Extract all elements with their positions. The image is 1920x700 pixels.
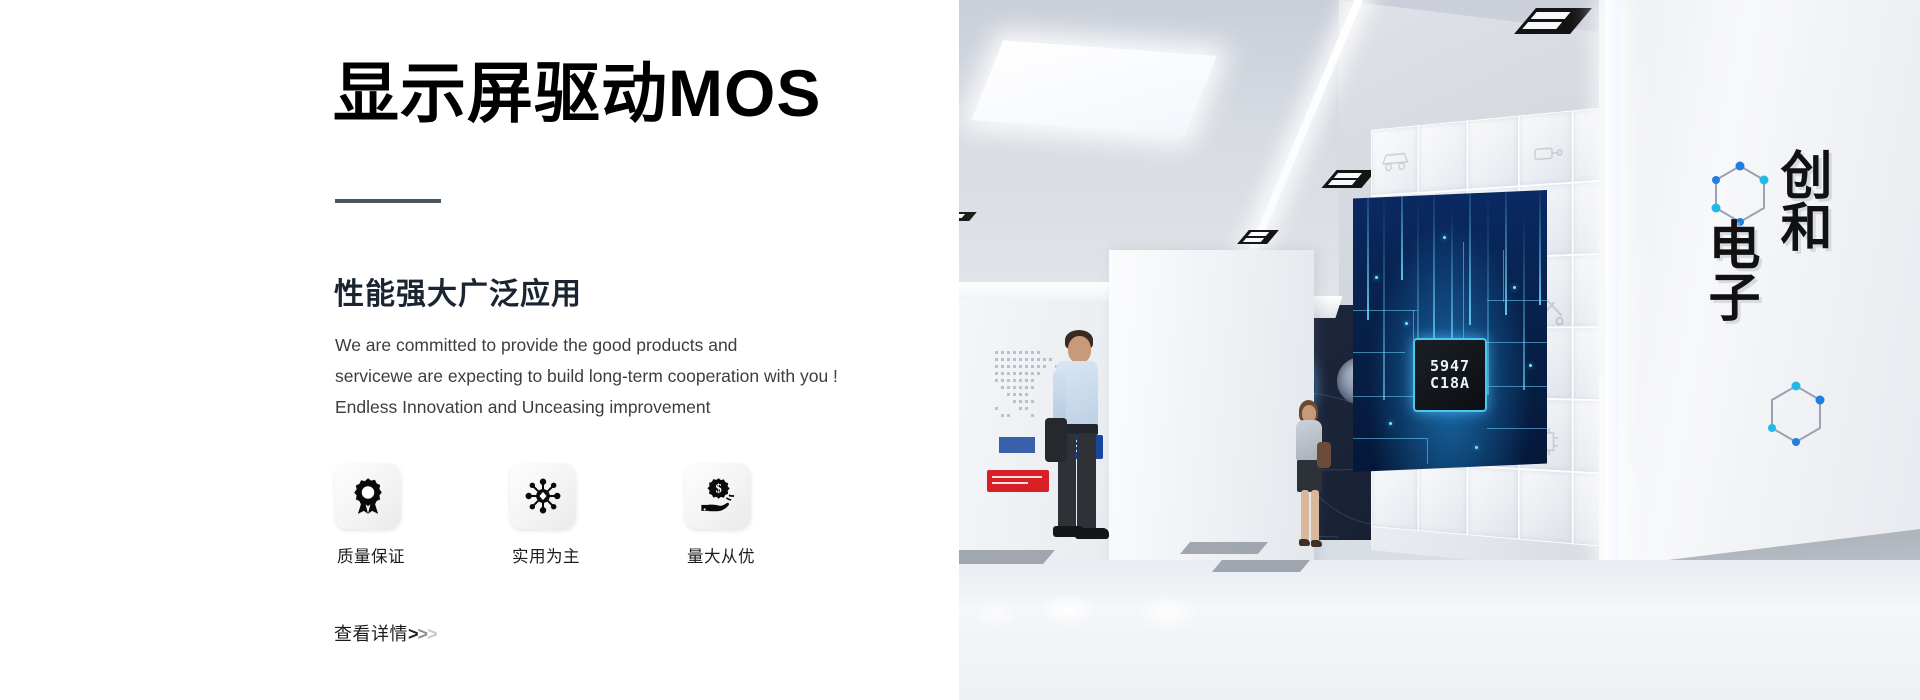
floor-inlay-1 <box>959 550 1055 564</box>
chip-graphic: 5947 C18A <box>1413 338 1487 412</box>
businessman-visitor <box>1039 330 1119 560</box>
showroom-floor <box>959 560 1920 700</box>
feature-label: 量大从优 <box>685 543 755 567</box>
led-display-screen: 5947 C18A <box>1353 190 1547 472</box>
brand-sign-column-1: 创和 <box>1771 148 1831 252</box>
page-title: 显示屏驱动MOS <box>333 56 821 132</box>
product-hero-banner: 显示屏驱动MOS 性能强大广泛应用 We are committed to pr… <box>0 0 1920 700</box>
network-hub-icon <box>510 463 576 529</box>
chevron-1-icon: > <box>408 624 418 645</box>
award-ribbon-icon <box>335 463 401 529</box>
embossed-product-icon-car <box>1379 139 1412 180</box>
embossed-product-icon-connector <box>1528 131 1566 175</box>
showroom-photo: 5947 C18A 创和 电子 <box>959 0 1920 700</box>
wall-plaque-small <box>999 437 1035 453</box>
feature-label: 质量保证 <box>335 543 405 567</box>
feature-label: 实用为主 <box>510 543 580 567</box>
floor-inlay-3 <box>1212 560 1310 572</box>
skylight-panel <box>971 40 1217 135</box>
hero-description: We are committed to provide the good pro… <box>335 330 838 423</box>
chevron-2-icon: > <box>418 624 428 645</box>
floor-inlay-2 <box>1180 542 1268 554</box>
hero-subtitle: 性能强大广泛应用 <box>334 269 582 313</box>
feature-list: 质量保证 <box>335 463 802 567</box>
chevron-3-icon: > <box>427 624 437 645</box>
floor-light-reflection-2 <box>1135 594 1201 632</box>
svg-text:$: $ <box>715 481 721 495</box>
chip-code-line2: C18A <box>1430 375 1470 392</box>
chip-code-line1: 5947 <box>1430 358 1470 375</box>
feature-item-practical[interactable]: 实用为主 <box>510 463 627 567</box>
feature-item-quality[interactable]: 质量保证 <box>335 463 452 567</box>
vertical-led-light <box>1606 0 1619 600</box>
description-line-2: servicewe are expecting to build long-te… <box>335 361 838 392</box>
molecule-hexagon-icon-bottom <box>1763 380 1829 454</box>
floor-light-reflection-1 <box>1037 592 1099 628</box>
view-details-label: 查看详情 <box>334 620 408 646</box>
brand-sign-column-2: 电子 <box>1699 218 1759 322</box>
businesswoman-visitor <box>1285 400 1335 555</box>
description-line-1: We are committed to provide the good pro… <box>335 330 838 361</box>
floor-light-reflection-3 <box>973 600 1019 628</box>
view-details-link[interactable]: 查看详情 > > > <box>334 620 437 646</box>
description-line-3: Endless Innovation and Unceasing improve… <box>335 392 838 423</box>
feature-item-bulk-discount[interactable]: $ 量大从优 <box>685 463 802 567</box>
hand-money-icon: $ <box>685 463 751 529</box>
hero-text-pane: 显示屏驱动MOS 性能强大广泛应用 We are committed to pr… <box>0 0 960 700</box>
title-divider <box>335 199 441 203</box>
